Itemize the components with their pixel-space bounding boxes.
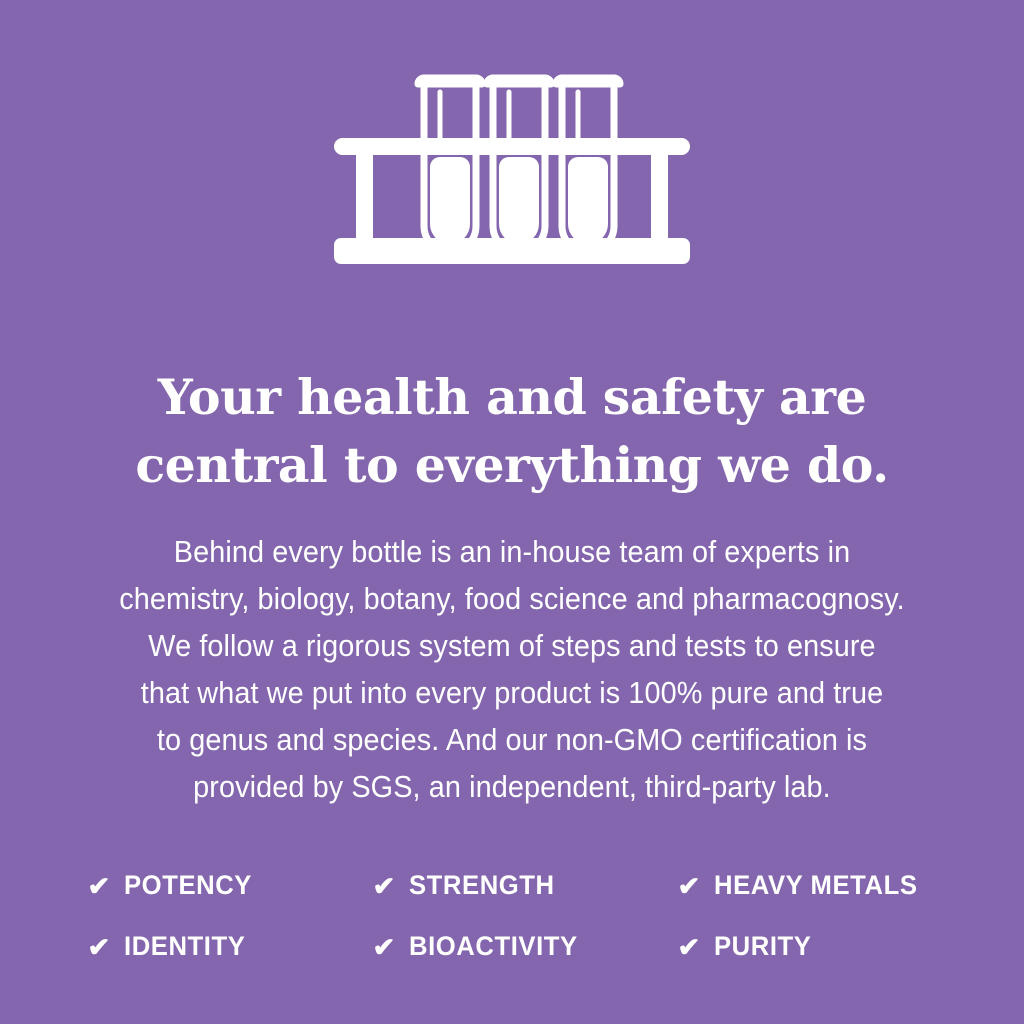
checklist-item-label: PURITY xyxy=(714,931,811,962)
page-title-line-2: central to everything we do. xyxy=(70,431,954,499)
body-line-6: provided by SGS, an independent, third-p… xyxy=(92,763,933,810)
body-line-1: Behind every bottle is an in-house team … xyxy=(92,528,933,575)
check-icon: ✔ xyxy=(372,934,396,960)
test-tube-rack-icon xyxy=(332,66,692,266)
body-line-3: We follow a rigorous system of steps and… xyxy=(92,622,933,669)
check-icon: ✔ xyxy=(87,873,111,899)
body-paragraph: Behind every bottle is an in-house team … xyxy=(36,528,988,810)
checklist-item-label: POTENCY xyxy=(124,870,252,901)
check-icon: ✔ xyxy=(677,873,701,899)
checklist-item-bioactivity: ✔ BIOACTIVITY xyxy=(373,931,678,962)
checklist-item-heavy-metals: ✔ HEAVY METALS xyxy=(678,870,958,901)
checklist-item-potency: ✔ POTENCY xyxy=(88,870,373,901)
check-icon: ✔ xyxy=(87,934,111,960)
checklist-item-strength: ✔ STRENGTH xyxy=(373,870,678,901)
check-icon: ✔ xyxy=(372,873,396,899)
check-icon: ✔ xyxy=(677,934,701,960)
checklist-item-label: STRENGTH xyxy=(409,870,555,901)
body-line-2: chemistry, biology, botany, food science… xyxy=(92,575,933,622)
body-line-5: to genus and species. And our non-GMO ce… xyxy=(92,716,933,763)
page-title-line-1: Your health and safety are xyxy=(70,363,954,431)
checklist-item-label: IDENTITY xyxy=(124,931,245,962)
body-line-4: that what we put into every product is 1… xyxy=(92,669,933,716)
quality-assurance-card: Your health and safety are central to ev… xyxy=(0,0,1024,1024)
checklist-item-label: HEAVY METALS xyxy=(714,870,918,901)
checklist-item-purity: ✔ PURITY xyxy=(678,931,958,962)
checklist-item-identity: ✔ IDENTITY xyxy=(88,931,373,962)
page-title: Your health and safety are central to ev… xyxy=(0,363,1024,499)
checklist-item-label: BIOACTIVITY xyxy=(409,931,578,962)
test-checklist: ✔ POTENCY ✔ STRENGTH ✔ HEAVY METALS ✔ ID… xyxy=(88,855,958,977)
